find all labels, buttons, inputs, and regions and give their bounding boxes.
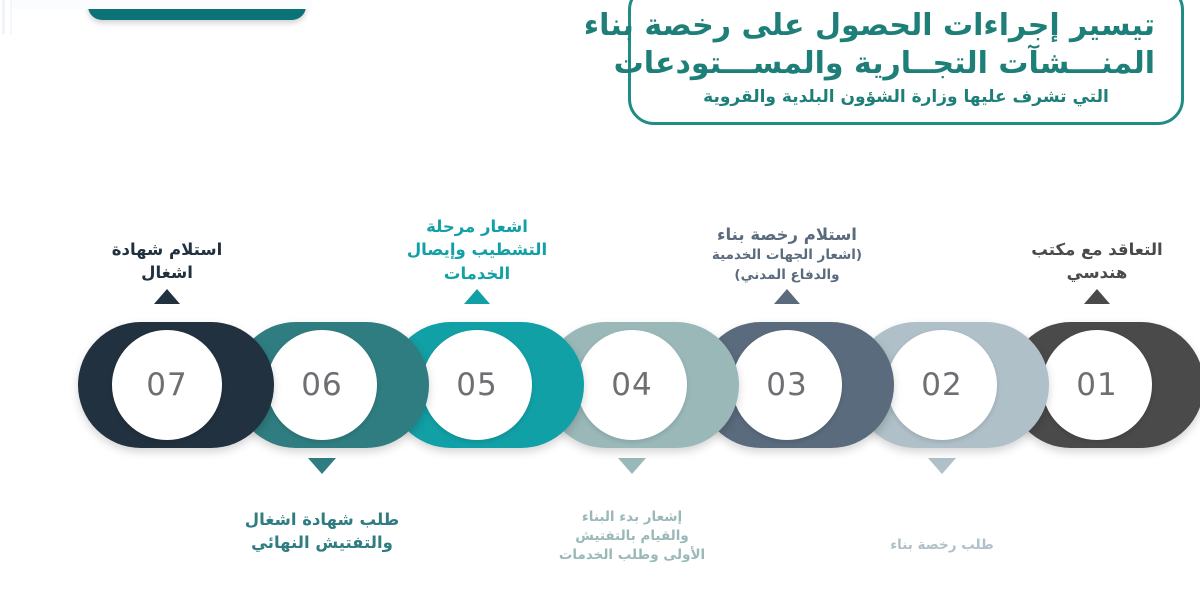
- step-circle-06: 06: [267, 330, 377, 440]
- step-label-line-05-3: الخدمات: [359, 262, 595, 285]
- step-label-line-07-2: اشغال: [49, 261, 285, 284]
- pointer-up-icon-01: [1084, 289, 1110, 304]
- step-label-line-03-2: (اشعار الجهات الخدمية: [669, 246, 905, 265]
- step-label-line-03-3: والدفاع المدني): [669, 266, 905, 285]
- step-circle-01: 01: [1042, 330, 1152, 440]
- step-circle-04: 04: [577, 330, 687, 440]
- step-label-line-02-1: طلب رخصة بناء: [824, 536, 1060, 555]
- pointer-down-icon-06: [308, 458, 336, 474]
- process-timeline: 07060504030201: [78, 322, 1138, 448]
- pointer-up-icon-03: [774, 289, 800, 304]
- step-label-line-03-1: استلام رخصة بناء: [669, 223, 905, 246]
- pointer-up-icon-05: [464, 289, 490, 304]
- edge-artifact-left: [2, 0, 5, 34]
- step-label-line-04-2: والقيام بالتفتيش: [514, 527, 750, 546]
- step-circle-02: 02: [887, 330, 997, 440]
- step-number-02: 02: [921, 367, 962, 403]
- step-label-01: التعاقد مع مكتبهندسي: [979, 238, 1200, 285]
- step-label-03: استلام رخصة بناء(اشعار الجهات الخدميةوال…: [669, 223, 905, 285]
- step-label-04: إشعار بدء البناءوالقيام بالتفتيشالأولى و…: [514, 508, 750, 565]
- step-label-line-04-1: إشعار بدء البناء: [514, 508, 750, 527]
- pointer-down-icon-04: [618, 458, 646, 474]
- step-label-line-05-2: التشطيب وإيصال: [359, 238, 595, 261]
- step-label-line-06-2: والتفتيش النهائي: [204, 531, 440, 554]
- step-label-02: طلب رخصة بناء: [824, 536, 1060, 555]
- step-label-06: طلب شهادة اشغالوالتفتيش النهائي: [204, 508, 440, 555]
- step-circle-05: 05: [422, 330, 532, 440]
- step-label-line-04-3: الأولى وطلب الخدمات: [514, 546, 750, 565]
- step-circle-07: 07: [112, 330, 222, 440]
- step-number-06: 06: [301, 367, 342, 403]
- pointer-up-icon-07: [154, 289, 180, 304]
- step-number-04: 04: [611, 367, 652, 403]
- step-number-05: 05: [456, 367, 497, 403]
- step-pill-07: 07: [78, 322, 274, 448]
- step-label-line-05-1: اشعار مرحلة: [359, 215, 595, 238]
- step-label-07: استلام شهادةاشغال: [49, 238, 285, 285]
- step-label-line-01-2: هندسي: [979, 261, 1200, 284]
- title-box: تيسير إجراءات الحصول على رخصة بناء المنـ…: [628, 0, 1184, 125]
- step-label-line-07-1: استلام شهادة: [49, 238, 285, 261]
- page-subtitle: التي تشرف عليها وزارة الشؤون البلدية وال…: [657, 86, 1155, 110]
- step-circle-03: 03: [732, 330, 842, 440]
- page-title-line-2: المنـــشآت التجــارية والمســـتودعات: [657, 45, 1155, 83]
- page-title-line-1: تيسير إجراءات الحصول على رخصة بناء: [657, 7, 1155, 45]
- step-label-05: اشعار مرحلةالتشطيب وإيصالالخدمات: [359, 215, 595, 285]
- step-label-line-06-1: طلب شهادة اشغال: [204, 508, 440, 531]
- step-number-07: 07: [146, 367, 187, 403]
- step-label-line-01-1: التعاقد مع مكتب: [979, 238, 1200, 261]
- step-number-01: 01: [1076, 367, 1117, 403]
- pointer-down-icon-02: [928, 458, 956, 474]
- edge-artifact-top-band: [12, 0, 312, 9]
- step-number-03: 03: [766, 367, 807, 403]
- timeline-step-07[interactable]: 07: [78, 322, 274, 448]
